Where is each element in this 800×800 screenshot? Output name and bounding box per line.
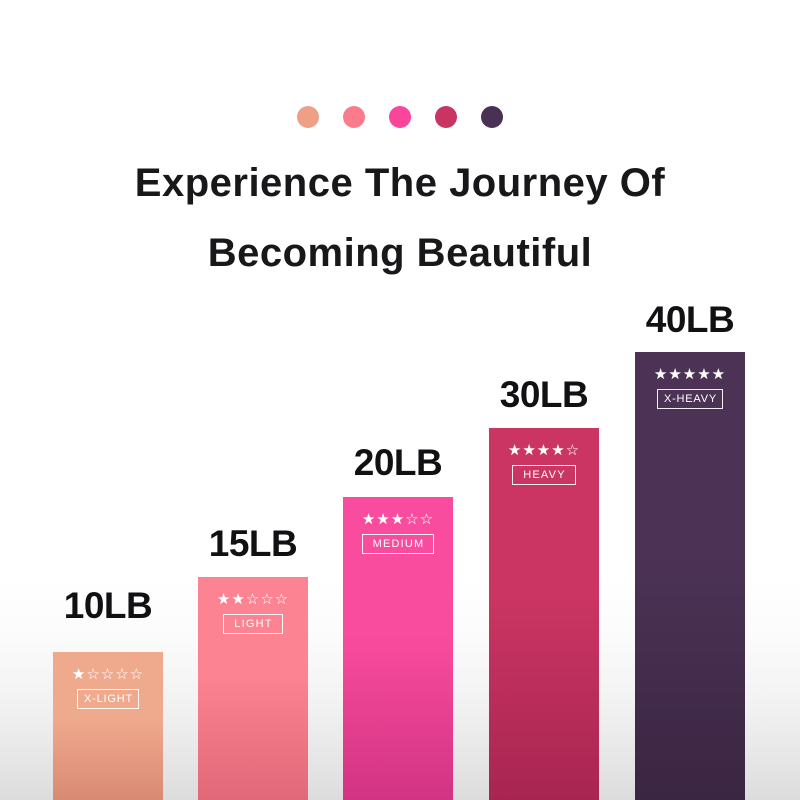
- tier-badge: MEDIUM: [362, 534, 435, 554]
- bar-weight-label: 20LB: [331, 443, 465, 483]
- bar-slot[interactable]: 15LB★★☆☆☆LIGHT: [198, 524, 308, 800]
- dot-light: [343, 106, 365, 128]
- bar-column[interactable]: ★★★☆☆MEDIUM: [343, 497, 453, 800]
- bar-weight-label: 30LB: [477, 375, 611, 415]
- bar-badge-group: ★★★☆☆MEDIUM: [343, 511, 453, 554]
- resistance-band-infographic: Experience The Journey Of Becoming Beaut…: [0, 0, 800, 800]
- page-title-line-1: Experience The Journey Of: [0, 148, 800, 218]
- star-rating: ★★★★☆: [489, 442, 599, 459]
- tier-badge: HEAVY: [512, 465, 575, 485]
- bar-slot[interactable]: 20LB★★★☆☆MEDIUM: [343, 443, 453, 800]
- bar-badge-group: ★★★★☆HEAVY: [489, 442, 599, 485]
- bar-badge-group: ★★★★★X-HEAVY: [635, 366, 745, 409]
- tier-badge: X-LIGHT: [77, 689, 139, 709]
- bar-slot[interactable]: 10LB★☆☆☆☆X-LIGHT: [53, 586, 163, 800]
- bar-column[interactable]: ★★★★★X-HEAVY: [635, 352, 745, 800]
- dot-medium: [389, 106, 411, 128]
- bar-badge-group: ★☆☆☆☆X-LIGHT: [53, 666, 163, 709]
- dot-x-heavy: [481, 106, 503, 128]
- bar-column[interactable]: ★★★★☆HEAVY: [489, 428, 599, 800]
- dot-heavy: [435, 106, 457, 128]
- tier-badge: X-HEAVY: [657, 389, 723, 409]
- page-title-line-2: Becoming Beautiful: [0, 218, 800, 288]
- bar-slot[interactable]: 40LB★★★★★X-HEAVY: [635, 300, 745, 800]
- page-title: Experience The Journey Of Becoming Beaut…: [0, 148, 800, 288]
- bar-column[interactable]: ★★☆☆☆LIGHT: [198, 577, 308, 800]
- bar-weight-label: 10LB: [41, 586, 175, 626]
- star-rating: ★☆☆☆☆: [53, 666, 163, 683]
- color-swatch-row: [0, 106, 800, 128]
- dot-x-light: [297, 106, 319, 128]
- bar-badge-group: ★★☆☆☆LIGHT: [198, 591, 308, 634]
- bar-weight-label: 40LB: [623, 300, 757, 340]
- bar-column[interactable]: ★☆☆☆☆X-LIGHT: [53, 652, 163, 800]
- tier-badge: LIGHT: [223, 614, 282, 634]
- bar-slot[interactable]: 30LB★★★★☆HEAVY: [489, 375, 599, 800]
- star-rating: ★★★★★: [635, 366, 745, 383]
- star-rating: ★★☆☆☆: [198, 591, 308, 608]
- bar-weight-label: 15LB: [186, 524, 320, 564]
- bar-fill: [635, 352, 745, 800]
- star-rating: ★★★☆☆: [343, 511, 453, 528]
- resistance-bar-chart: 10LB★☆☆☆☆X-LIGHT15LB★★☆☆☆LIGHT20LB★★★☆☆M…: [0, 280, 800, 800]
